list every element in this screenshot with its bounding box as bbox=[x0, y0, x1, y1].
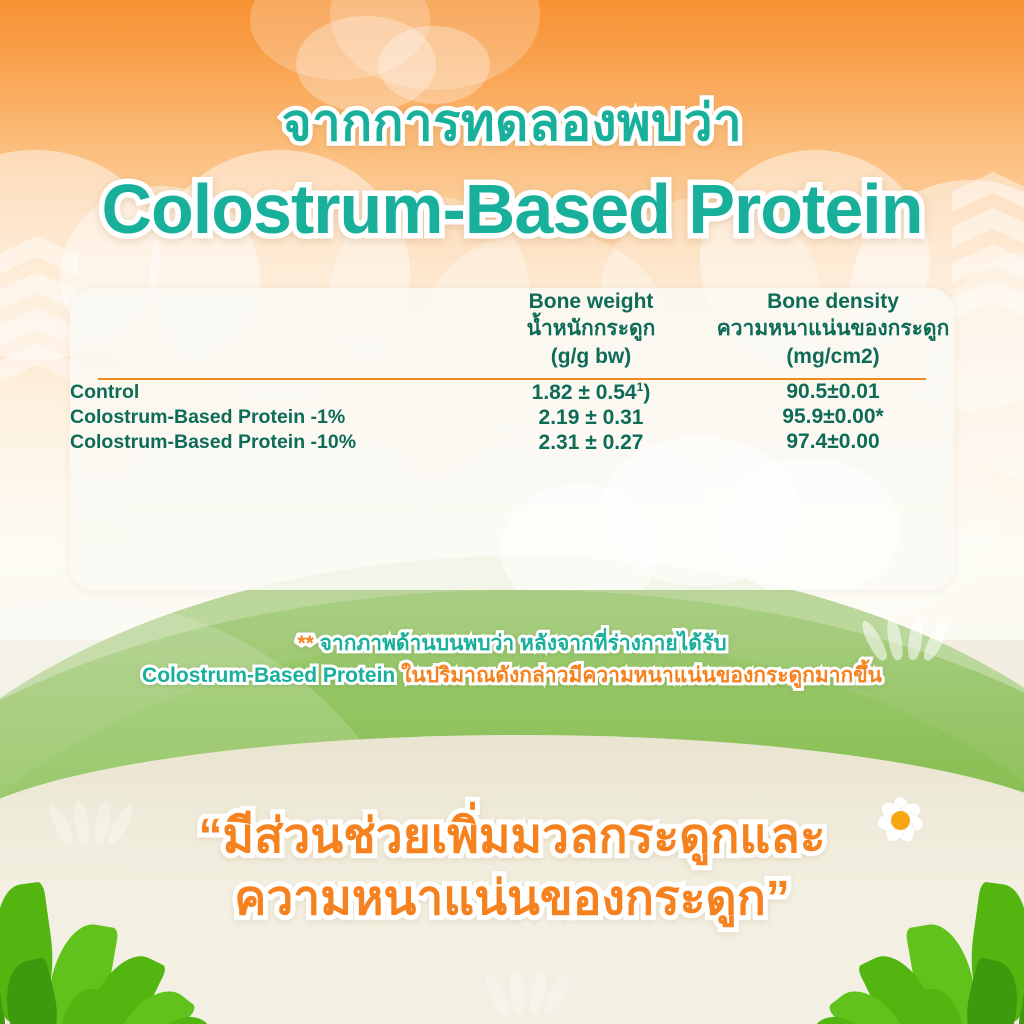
infographic-poster: จากการทดลองพบว่า Colostrum-Based Protein… bbox=[0, 0, 1024, 1024]
results-table-card: Bone weight น้ำหนักกระดูก (g/g bw) Bone … bbox=[70, 288, 954, 590]
table-header-row: Bone weight น้ำหนักกระดูก (g/g bw) Bone … bbox=[70, 288, 954, 370]
table-divider-row bbox=[70, 370, 954, 380]
row-bone-density: 97.4±0.00 bbox=[712, 430, 954, 455]
row-bone-density: 90.5±0.01 bbox=[712, 380, 954, 405]
results-table: Bone weight น้ำหนักกระดูก (g/g bw) Bone … bbox=[70, 288, 954, 455]
grass-tuft-icon bbox=[498, 966, 556, 1014]
footnote-line-2-text: ในปริมาณดังกล่าวมีความหนาแน่นของกระดูกมา… bbox=[395, 664, 882, 687]
value-tail: ) bbox=[643, 381, 650, 404]
column-header-bone-weight: Bone weight น้ำหนักกระดูก (g/g bw) bbox=[470, 288, 712, 370]
table-row: Colostrum-Based Protein -10% 2.31 ± 0.27… bbox=[70, 430, 954, 455]
column-header-label: Bone weight bbox=[529, 290, 654, 313]
footnote-line-2: Colostrum-Based Protein ในปริมาณดังกล่าว… bbox=[0, 660, 1024, 692]
bottom-quote: “มีส่วนช่วยเพิ่มมวลกระดูกและ ความหนาแน่น… bbox=[0, 806, 1024, 931]
footnote-line-1: ** จากภาพด้านบนพบว่า หลังจากที่ร่างกายได… bbox=[0, 628, 1024, 660]
footnote-line-1-text: จากภาพด้านบนพบว่า หลังจากที่ร่างกายได้รั… bbox=[314, 632, 727, 655]
row-label: Control bbox=[70, 380, 470, 405]
column-header-unit: (g/g bw) bbox=[470, 343, 712, 370]
row-bone-weight: 2.19 ± 0.31 bbox=[470, 405, 712, 430]
row-bone-density: 95.9±0.00* bbox=[712, 405, 954, 430]
row-label: Colostrum-Based Protein -1% bbox=[70, 405, 470, 430]
quote-line-2: ความหนาแน่นของกระดูก” bbox=[0, 868, 1024, 930]
footnote-brand: Colostrum-Based Protein bbox=[142, 664, 395, 687]
page-title: Colostrum-Based Protein bbox=[0, 169, 1024, 249]
quote-line-1: “มีส่วนช่วยเพิ่มมวลกระดูกและ bbox=[0, 806, 1024, 868]
column-header-thai: น้ำหนักกระดูก bbox=[470, 315, 712, 342]
footnote-asterisks: ** bbox=[297, 632, 313, 655]
row-bone-weight: 2.31 ± 0.27 bbox=[470, 430, 712, 455]
column-header-label: Bone density bbox=[767, 290, 899, 313]
value-text: 1.82 ± 0.54 bbox=[532, 381, 637, 404]
eyebrow-thai-title: จากการทดลองพบว่า bbox=[0, 82, 1024, 163]
column-header-thai: ความหนาแน่นของกระดูก bbox=[712, 315, 954, 342]
row-bone-weight: 1.82 ± 0.541) bbox=[470, 380, 712, 405]
table-row: Control 1.82 ± 0.541) 90.5±0.01 bbox=[70, 380, 954, 405]
value-text: 2.31 ± 0.27 bbox=[539, 431, 644, 454]
headline-group: จากการทดลองพบว่า Colostrum-Based Protein bbox=[0, 0, 1024, 249]
footnote-text: ** จากภาพด้านบนพบว่า หลังจากที่ร่างกายได… bbox=[0, 628, 1024, 692]
column-header-blank bbox=[70, 288, 470, 370]
row-label: Colostrum-Based Protein -10% bbox=[70, 430, 470, 455]
value-text: 2.19 ± 0.31 bbox=[539, 406, 644, 429]
table-row: Colostrum-Based Protein -1% 2.19 ± 0.31 … bbox=[70, 405, 954, 430]
column-header-unit: (mg/cm2) bbox=[712, 343, 954, 370]
column-header-bone-density: Bone density ความหนาแน่นของกระดูก (mg/cm… bbox=[712, 288, 954, 370]
